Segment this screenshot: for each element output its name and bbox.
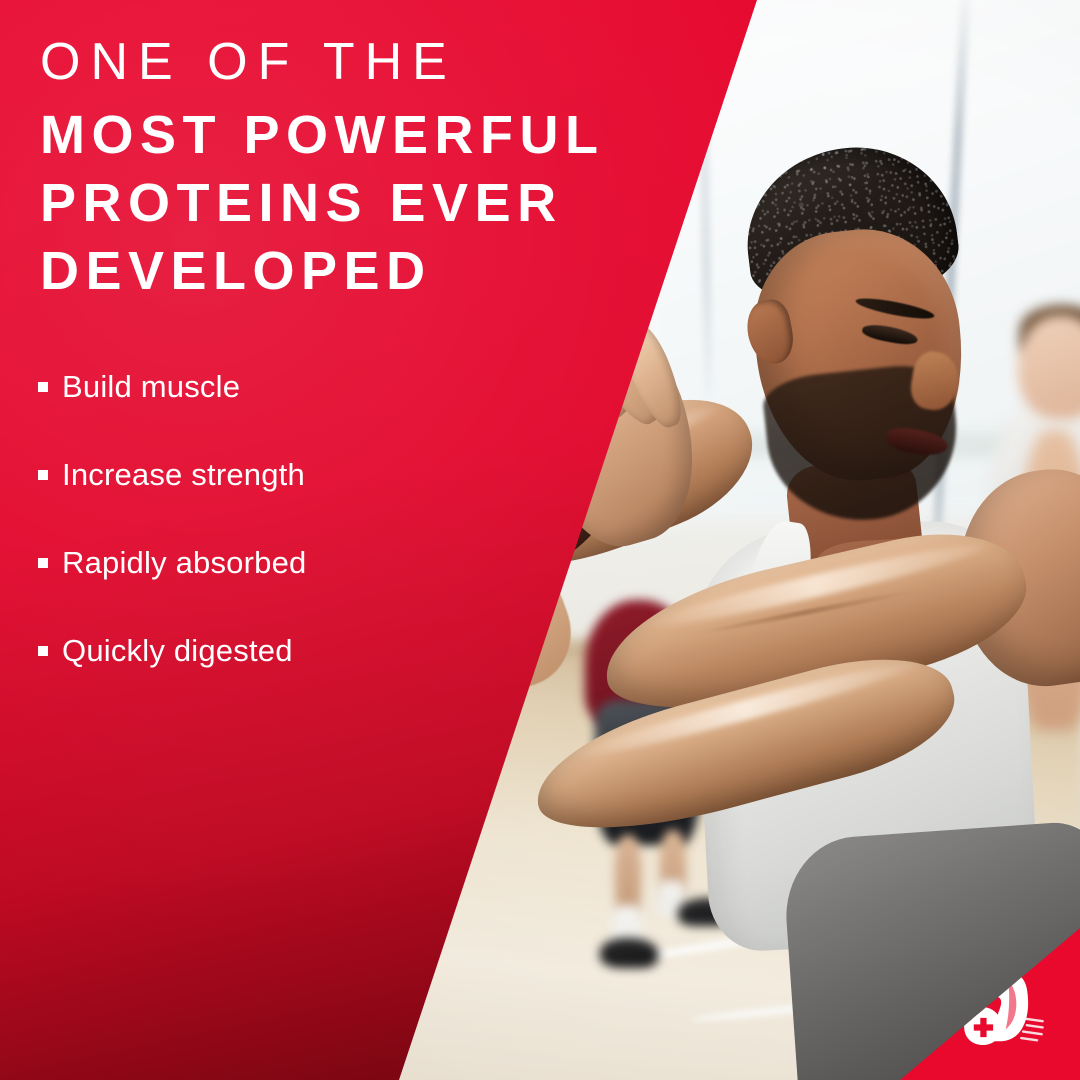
benefit-label: Build muscle [62, 369, 240, 405]
benefit-label: Rapidly absorbed [62, 545, 306, 581]
square-bullet-icon [38, 382, 48, 392]
headline-line-3: PROTEINS EVER [40, 176, 720, 230]
list-item: Build muscle [38, 343, 418, 431]
list-item: Increase strength [38, 431, 418, 519]
list-item: Rapidly absorbed [38, 519, 418, 607]
benefit-label: Increase strength [62, 457, 305, 493]
benefits-list: Build muscle Increase strength Rapidly a… [38, 343, 418, 695]
promo-banner: ONE OF THE MOST POWERFUL PROTEINS EVER D… [0, 0, 1080, 1080]
benefit-label: Quickly digested [62, 633, 293, 669]
background-player-shoe [600, 938, 658, 968]
square-bullet-icon [38, 470, 48, 480]
square-bullet-icon [38, 646, 48, 656]
headline-line-1: ONE OF THE [40, 36, 720, 88]
square-bullet-icon [38, 558, 48, 568]
headline-line-4: DEVELOPED [40, 244, 720, 298]
headline-line-2: MOST POWERFUL [40, 108, 720, 162]
list-item: Quickly digested [38, 607, 418, 695]
headline: ONE OF THE MOST POWERFUL PROTEINS EVER D… [40, 36, 720, 312]
